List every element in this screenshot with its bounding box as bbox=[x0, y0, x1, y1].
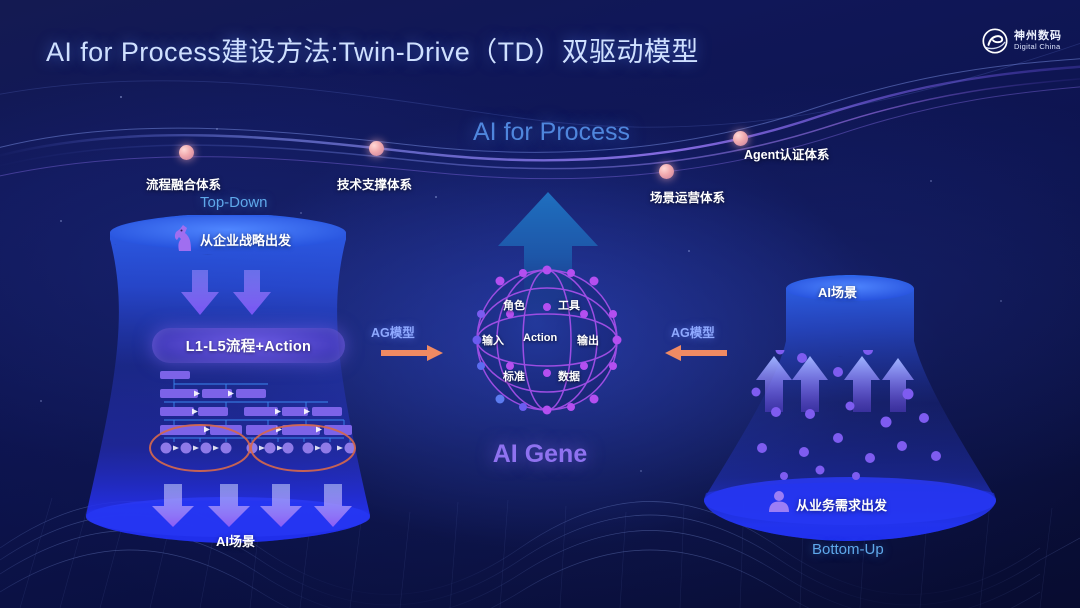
left-funnel-mode-label: Top-Down bbox=[200, 194, 268, 211]
logo-text-en: Digital China bbox=[1014, 43, 1062, 51]
star-dot bbox=[120, 96, 122, 98]
chess-knight-icon bbox=[172, 224, 194, 252]
star-dot bbox=[435, 196, 437, 198]
left-funnel-pill[interactable]: L1-L5流程+Action bbox=[152, 328, 345, 363]
brand-logo: 神州数码 Digital China bbox=[982, 28, 1062, 54]
curve-node-dot-1[interactable] bbox=[179, 145, 194, 160]
star-dot bbox=[930, 180, 932, 182]
page-title: AI for Process建设方法:Twin-Drive（TD）双驱动模型 bbox=[46, 30, 699, 69]
star-dot bbox=[688, 250, 690, 252]
ai-gene-sphere: 角色 工具 输入 Action 输出 标准 数据 bbox=[470, 265, 625, 415]
curve-node-label-4: Agent认证体系 bbox=[744, 144, 829, 163]
sphere-node-label-action: Action bbox=[523, 332, 557, 344]
ag-model-label-left: AG模型 bbox=[371, 322, 415, 341]
star-dot bbox=[40, 400, 42, 402]
curve-node-label-3: 场景运营体系 bbox=[650, 187, 725, 206]
curve-node-label-2: 技术支撑体系 bbox=[337, 174, 412, 193]
arrow-right-icon bbox=[381, 345, 443, 361]
left-funnel-bottom-text: AI场景 bbox=[216, 531, 255, 550]
center-headline: AI for Process bbox=[473, 118, 630, 147]
down-arrow-icon bbox=[152, 484, 352, 528]
sphere-node-label-data: 数据 bbox=[558, 368, 580, 384]
digital-china-swirl-icon bbox=[982, 28, 1008, 54]
sphere-node-label-input: 输入 bbox=[482, 332, 504, 348]
right-funnel-mode-label: Bottom-Up bbox=[812, 541, 884, 558]
curve-node-dot-3[interactable] bbox=[659, 164, 674, 179]
curve-node-label-1: 流程融合体系 bbox=[146, 174, 221, 193]
up-arrow-icon bbox=[750, 350, 950, 480]
sphere-node-label-tool: 工具 bbox=[558, 297, 580, 313]
star-dot bbox=[640, 470, 642, 472]
star-dot bbox=[300, 212, 302, 214]
sphere-node-label-role: 角色 bbox=[503, 297, 525, 313]
right-funnel-bottom-text: 从业务需求出发 bbox=[796, 495, 887, 514]
sphere-node-label-standard: 标准 bbox=[503, 368, 525, 384]
curve-node-dot-2[interactable] bbox=[369, 141, 384, 156]
left-funnel-cap-text: 从企业战略出发 bbox=[200, 230, 291, 249]
down-arrow-icon bbox=[178, 270, 278, 316]
slide-canvas: AI for Process建设方法:Twin-Drive（TD）双驱动模型 神… bbox=[0, 0, 1080, 608]
sphere-node-label-output: 输出 bbox=[577, 332, 599, 348]
star-dot bbox=[216, 128, 218, 130]
star-dot bbox=[60, 220, 62, 222]
right-funnel-cap-text: AI场景 bbox=[818, 282, 857, 301]
person-icon bbox=[768, 490, 790, 512]
